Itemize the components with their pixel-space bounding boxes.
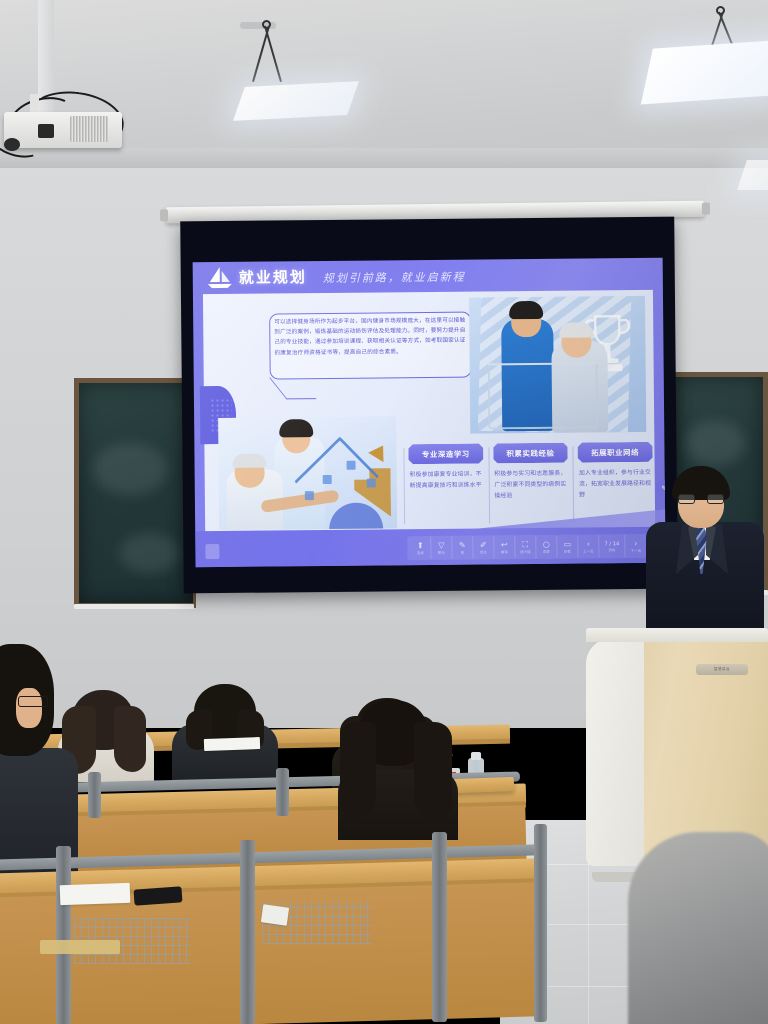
tool-blackscreen[interactable]: ○ 黑屏 bbox=[536, 536, 557, 558]
chalkboard-left bbox=[74, 378, 196, 608]
projector-lens bbox=[4, 138, 20, 151]
projector-vent bbox=[70, 116, 108, 142]
slide-logo-left bbox=[205, 544, 219, 559]
chevron-right-icon: › bbox=[634, 540, 637, 548]
crumpled-paper bbox=[261, 904, 289, 925]
tool-magnifier[interactable]: ⛶ 放大镜 bbox=[515, 536, 536, 558]
decor-square bbox=[347, 461, 356, 470]
lectern-nameplate: 智慧讲台 bbox=[696, 664, 748, 675]
card-title-chip: 积累实践经验 bbox=[493, 443, 568, 464]
tool-whiteboard[interactable]: ▭ 白板 bbox=[557, 536, 578, 558]
decor-square bbox=[367, 479, 376, 488]
card-body-text: 积极参与实习和志愿服务，广泛积累不同类型的病例实操经验 bbox=[494, 469, 567, 503]
slide-header: 就业规划 规划引前路，就业启新程 bbox=[193, 258, 663, 293]
presenter-glasses bbox=[678, 494, 724, 504]
lectern-side-panel bbox=[586, 638, 646, 866]
speech-bubble-text: 可以选择健身场所作为起步平台，国内健身市场规模庞大，在这里可以接触到广泛的案例，… bbox=[274, 316, 467, 376]
slide-title: 就业规划 bbox=[239, 266, 307, 288]
audience-member-5-right-foreground bbox=[332, 700, 462, 832]
student-presenter bbox=[640, 466, 768, 634]
photo-nurse-assisting-elderly-patient bbox=[218, 416, 397, 530]
card-title: 积累实践经验 bbox=[506, 447, 554, 458]
card-title-chip: 拓展职业网络 bbox=[578, 442, 653, 463]
housing-bracket-right bbox=[702, 203, 710, 215]
photo-therapist-assisting-elderly-walker bbox=[469, 296, 646, 434]
slide-content-panel: 可以选择健身场所作为起步平台，国内健身市场规模庞大，在这里可以接触到广泛的案例，… bbox=[203, 290, 655, 532]
card-title: 专业深造学习 bbox=[422, 448, 470, 459]
slide-subtitle: 规划引前路，就业启新程 bbox=[323, 269, 466, 286]
walker-frame bbox=[488, 362, 599, 429]
undo-icon: ↩ bbox=[501, 541, 508, 549]
foreground-person-silhouette bbox=[628, 832, 768, 1024]
tool-spotlight[interactable]: ▽ 聚光 bbox=[431, 537, 452, 559]
power-strip bbox=[40, 940, 120, 954]
ceiling-projector bbox=[0, 88, 140, 168]
select-icon: ⬆ bbox=[417, 542, 424, 550]
prev-slide-button[interactable]: ‹ 上一页 bbox=[578, 535, 599, 557]
spotlight-icon: ▽ bbox=[438, 541, 444, 549]
slide-footer-band: ⬆ 选择 ▽ 聚光 ✎ 笔 ✐ 荧光 bbox=[195, 527, 665, 568]
audience-member-1-left-foreground bbox=[0, 644, 74, 874]
audience-member-3 bbox=[172, 684, 278, 778]
tool-undo[interactable]: ↩ 撤销 bbox=[494, 536, 515, 558]
photo-person-elderly-hair bbox=[559, 322, 593, 337]
growth-arrow-tip-icon bbox=[368, 441, 391, 462]
card-divider bbox=[403, 448, 405, 524]
decor-square bbox=[323, 475, 332, 484]
pen-icon: ✎ bbox=[459, 541, 466, 549]
projection-screen[interactable]: 就业规划 规划引前路，就业启新程 可以选择健身场所作为起步平台，国内健身市场规模… bbox=[180, 217, 678, 594]
slide-page-indicator: 7 / 14 页码 bbox=[599, 535, 625, 557]
card-title-chip: 专业深造学习 bbox=[408, 443, 483, 464]
card-title: 拓展职业网络 bbox=[591, 446, 639, 457]
strategy-card[interactable]: 专业深造学习 积极参加康复专业培训，不断提高康复技巧和训练水平 bbox=[406, 443, 485, 528]
strategy-card[interactable]: 积累实践经验 积极参与实习和志愿服务，广泛积累不同类型的病例实操经验 bbox=[491, 443, 570, 528]
photo-person-nurse-hair bbox=[279, 419, 313, 437]
chalk-tray-left bbox=[74, 604, 194, 609]
card-divider bbox=[488, 447, 490, 523]
smartphone bbox=[134, 886, 183, 905]
black-screen-icon: ○ bbox=[543, 540, 550, 548]
projector-connector bbox=[38, 124, 54, 138]
speech-bubble-tail bbox=[269, 377, 316, 399]
sailboat-icon bbox=[207, 266, 233, 289]
decor-square bbox=[305, 491, 314, 500]
classroom-scene: 就业规划 规划引前路，就业启新程 可以选择健身场所作为起步平台，国内健身市场规模… bbox=[0, 0, 768, 1024]
whiteboard-icon: ▭ bbox=[564, 540, 572, 548]
tool-pen[interactable]: ✎ 笔 bbox=[452, 537, 473, 559]
photo-person-therapist-hair bbox=[509, 301, 543, 319]
highlighter-icon: ✐ bbox=[480, 541, 487, 549]
presentation-slide[interactable]: 就业规划 规划引前路，就业启新程 可以选择健身场所作为起步平台，国内健身市场规模… bbox=[193, 258, 666, 567]
housing-bracket-left bbox=[160, 209, 168, 221]
paper-handout bbox=[204, 737, 260, 751]
paper-handout bbox=[60, 883, 131, 905]
chevron-left-icon: ‹ bbox=[587, 540, 590, 548]
lectern-top-surface bbox=[586, 628, 768, 642]
tool-highlighter[interactable]: ✐ 荧光 bbox=[473, 536, 494, 558]
card-divider bbox=[573, 447, 575, 523]
magnifier-icon: ⛶ bbox=[522, 541, 528, 549]
photo-person-patient-hair bbox=[232, 454, 266, 468]
presentation-toolbar[interactable]: ⬆ 选择 ▽ 聚光 ✎ 笔 ✐ 荧光 bbox=[407, 534, 649, 560]
card-body-text: 积极参加康复专业培训，不断提高康复技巧和训练水平 bbox=[410, 469, 483, 492]
audience-glasses bbox=[18, 696, 48, 707]
tool-select[interactable]: ⬆ 选择 bbox=[410, 537, 431, 559]
